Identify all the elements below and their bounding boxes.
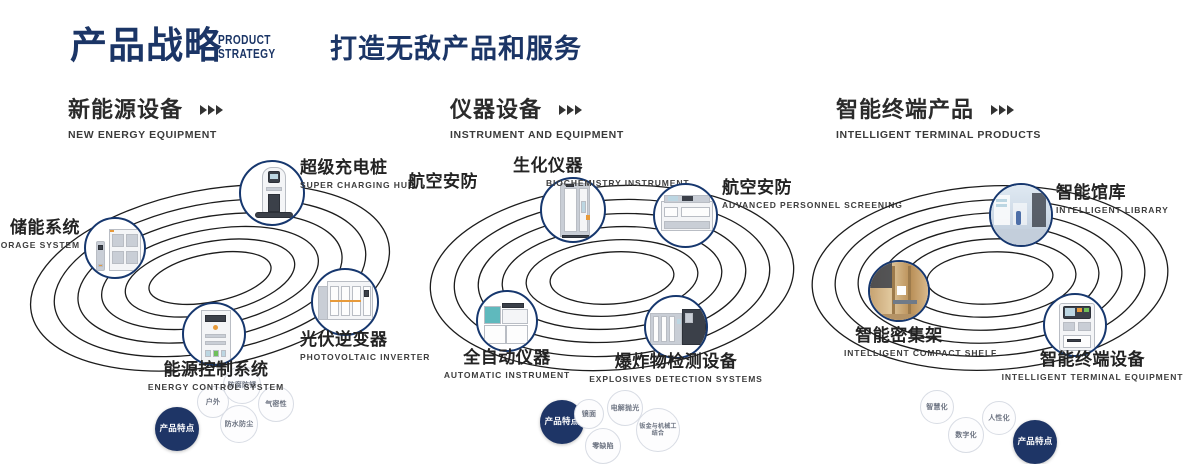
section-heading-instrument: 仪器设备 INSTRUMENT AND EQUIPMENT	[450, 96, 624, 141]
node-label-explosives-detection: 爆炸物检测设备 EXPLOSIVES DETECTION SYSTEMS	[576, 352, 776, 385]
node-label-cn: 储能系统	[0, 218, 80, 238]
cluster-instrument: 产品特点 镜面 电解抛光 钣金与机械工结合 零缺陷 航空安防 生化仪器 BIOC…	[400, 150, 820, 410]
page-header: 产品战略 PRODUCT STRATEGY 打造无敌产品和服务	[0, 0, 1200, 92]
page-title-en: PRODUCT STRATEGY	[218, 33, 276, 61]
feature-bubble-humanized: 人性化	[982, 401, 1016, 435]
node-label-en: AUTOMATIC INSTRUMENT	[417, 370, 597, 381]
explosive-detector-icon	[646, 297, 706, 357]
page-slogan: 打造无敌产品和服务	[330, 36, 582, 63]
node-label-cn: 智能密集架	[799, 326, 999, 346]
feature-bubble-label: 镜面	[582, 410, 596, 419]
node-label-en: INTELLIGENT COMPACT SHELF	[844, 348, 954, 359]
section-heading-new-energy: 新能源设备 NEW ENERGY EQUIPMENT	[68, 96, 224, 141]
node-label-cn: 爆炸物检测设备	[576, 352, 776, 372]
node-intelligent-library[interactable]	[989, 183, 1053, 247]
feature-bubble-label: 气密性	[265, 400, 287, 409]
node-pv-inverter[interactable]	[311, 268, 379, 336]
feature-bubble-label: 户外	[206, 398, 220, 407]
feature-bubble-smart: 智慧化	[920, 390, 954, 424]
compact-shelf-icon	[870, 262, 928, 320]
node-label-cn: 能源控制系统	[86, 360, 346, 380]
node-energy-storage[interactable]	[84, 217, 146, 279]
node-label-en: BIOCHEMISTRY INSTRUMENT	[546, 178, 608, 189]
node-label-compact-shelf: 智能密集架 INTELLIGENT COMPACT SHELF	[799, 326, 999, 359]
battery-cabinet-icon	[86, 219, 144, 277]
node-label-energy-storage: 储能系统 ENERGY STORAGE SYSTEM	[0, 218, 80, 251]
node-label-cn: 生化仪器	[488, 156, 608, 176]
section-title-text: 智能终端产品	[836, 98, 974, 123]
node-energy-control[interactable]	[182, 302, 246, 366]
node-compact-shelf[interactable]	[868, 260, 930, 322]
node-label-cn: 全自动仪器	[417, 348, 597, 368]
node-label-biochemistry: 生化仪器 BIOCHEMISTRY INSTRUMENT	[488, 156, 608, 189]
node-label-energy-control: 能源控制系统 ENERGY CONTROL SYSTEM	[86, 360, 346, 393]
feature-bubble-label: 零缺陷	[592, 442, 614, 451]
node-label-cn: 航空安防	[408, 172, 498, 192]
page-title-en-line2: STRATEGY	[218, 47, 276, 61]
node-charging-hub[interactable]	[239, 160, 305, 226]
library-room-icon	[991, 185, 1051, 245]
page-title-cn: 产品战略	[70, 27, 222, 64]
node-label-cn: 智能馆库	[1056, 183, 1186, 203]
feature-bubble-label: 数字化	[955, 431, 977, 440]
section-heading-en: NEW ENERGY EQUIPMENT	[68, 129, 224, 141]
node-label-en: INTELLIGENT LIBRARY	[1056, 205, 1186, 216]
section-heading-intelligent: 智能终端产品 INTELLIGENT TERMINAL PRODUCTS	[836, 96, 1041, 141]
feature-bubble-zerodefect: 零缺陷	[585, 428, 621, 464]
feature-bubble-label: 人性化	[988, 414, 1010, 423]
auto-analyzer-icon	[478, 292, 536, 350]
feature-badge-label: 产品特点	[160, 424, 195, 434]
section-title-text: 新能源设备	[68, 98, 183, 123]
node-terminal-equipment[interactable]	[1043, 293, 1107, 357]
node-label-en: ENERGY STORAGE SYSTEM	[0, 240, 80, 251]
section-heading-en: INTELLIGENT TERMINAL PRODUCTS	[836, 129, 1041, 141]
chevron-triple-icon	[991, 96, 1015, 122]
node-label-terminal-equipment: 智能终端设备 INTELLIGENT TERMINAL EQUIPMENT	[985, 350, 1200, 383]
page-title-en-line1: PRODUCT	[218, 33, 276, 47]
node-automatic-instrument[interactable]	[476, 290, 538, 352]
node-explosives-detection[interactable]	[644, 295, 708, 359]
feature-bubble-label: 电解抛光	[611, 404, 640, 413]
section-heading-cn: 智能终端产品	[836, 96, 1041, 124]
node-label-intelligent-library: 智能馆库 INTELLIGENT LIBRARY	[1056, 183, 1186, 216]
node-label-automatic-instrument: 全自动仪器 AUTOMATIC INSTRUMENT	[417, 348, 597, 381]
section-heading-cn: 新能源设备	[68, 96, 224, 124]
pv-inverter-icon	[313, 270, 377, 334]
feature-bubble-mirror: 镜面	[574, 399, 604, 429]
feature-bubble-label: 智慧化	[926, 403, 948, 412]
charging-pile-icon	[241, 162, 303, 224]
section-heading-cn: 仪器设备	[450, 96, 624, 124]
feature-badge-main: 产品特点	[1013, 420, 1057, 464]
cluster-intelligent-terminal: 智慧化 数字化 人性化 产品特点 智能馆库 INTELLIGENT LIBRAR…	[790, 150, 1200, 410]
chevron-triple-icon	[559, 96, 583, 122]
feature-bubble-waterproof: 防水防尘	[220, 405, 258, 443]
screening-machine-icon	[655, 185, 716, 246]
feature-badge-label: 产品特点	[1018, 437, 1053, 447]
feature-bubble-label: 防水防尘	[225, 420, 254, 429]
feature-bubble-digital: 数字化	[948, 417, 984, 453]
node-label-en: INTELLIGENT TERMINAL EQUIPMENT	[985, 372, 1200, 383]
cluster-new-energy: 产品特点 户外 防腐防锈 防水防尘 气密性 储能系统 ENERGY STORAG…	[0, 150, 420, 410]
node-label-en: ENERGY CONTROL SYSTEM	[86, 382, 346, 393]
node-label-cn: 智能终端设备	[985, 350, 1200, 370]
node-label-en: EXPLOSIVES DETECTION SYSTEMS	[576, 374, 776, 385]
control-cabinet-icon	[184, 304, 244, 364]
chevron-triple-icon	[200, 96, 224, 122]
section-title-text: 仪器设备	[450, 98, 542, 123]
section-heading-en: INSTRUMENT AND EQUIPMENT	[450, 129, 624, 141]
feature-bubble-label: 钣金与机械工结合	[637, 423, 679, 438]
node-label-aviation-security-aside: 航空安防	[408, 172, 498, 192]
node-personnel-screening[interactable]	[653, 183, 718, 248]
feature-bubble-sheetmetal: 钣金与机械工结合	[636, 408, 680, 452]
feature-badge-main: 产品特点	[155, 407, 199, 451]
terminal-kiosk-icon	[1045, 295, 1105, 355]
